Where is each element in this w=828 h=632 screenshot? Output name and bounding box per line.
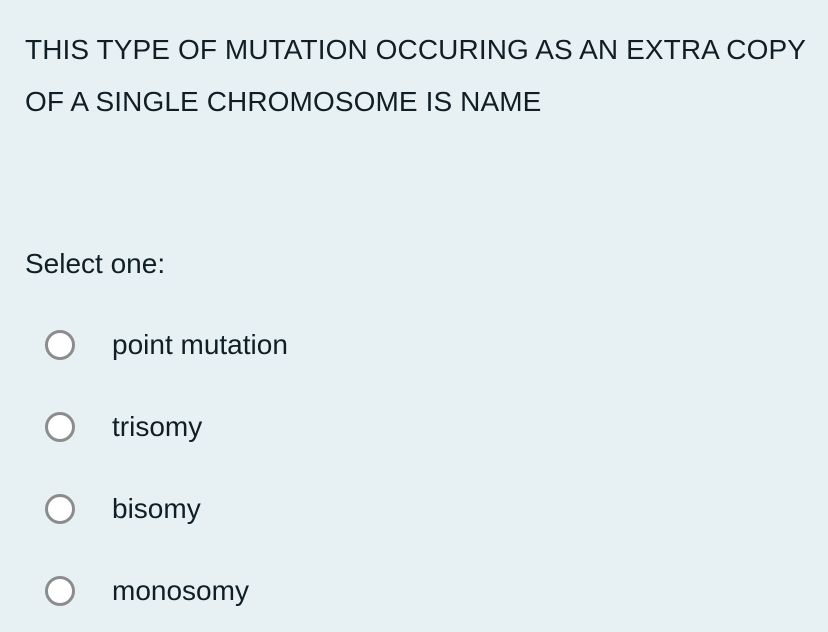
answer-option[interactable]: point mutation (0, 304, 828, 386)
select-one-instruction: Select one: (25, 246, 165, 282)
radio-unselected-icon[interactable] (45, 576, 75, 606)
answer-option-label: point mutation (112, 328, 288, 362)
answer-option-label: bisomy (112, 492, 201, 526)
answer-option[interactable]: trisomy (0, 386, 828, 468)
answer-option[interactable]: monosomy (0, 550, 828, 632)
radio-unselected-icon[interactable] (45, 494, 75, 524)
answer-option-label: trisomy (112, 410, 202, 444)
answer-option[interactable]: bisomy (0, 468, 828, 550)
radio-unselected-icon[interactable] (45, 412, 75, 442)
question-stem: THIS TYPE OF MUTATION OCCURING AS AN EXT… (25, 24, 815, 128)
question-page: THIS TYPE OF MUTATION OCCURING AS AN EXT… (0, 0, 828, 626)
answer-option-label: monosomy (112, 574, 249, 608)
radio-unselected-icon[interactable] (45, 330, 75, 360)
answer-option-list: point mutation trisomy bisomy monosomy (0, 304, 828, 632)
